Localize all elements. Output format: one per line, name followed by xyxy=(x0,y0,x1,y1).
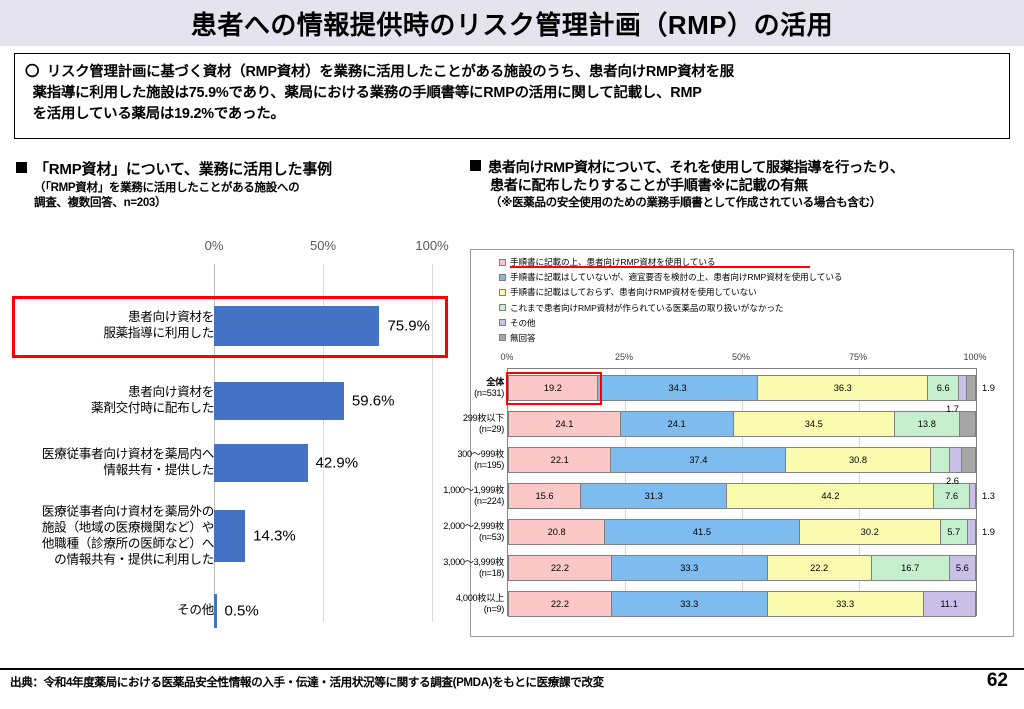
right-segment-value: 11.1 xyxy=(940,599,957,609)
right-bar-segment xyxy=(960,412,976,436)
left-bar-chart: 0%50%100% 患者向け資材を服薬指導に利用した75.9%患者向け資材を薬剤… xyxy=(10,238,460,628)
summary-text-2: 薬指導に利用した施設は75.9%であり、薬局における業務の手順書等にRMPの活用… xyxy=(33,85,702,101)
right-segment-value: 34.5 xyxy=(805,419,823,429)
left-bar-label: 医療従事者向け資材を薬局内へ情報共有・提供した xyxy=(8,447,214,479)
slide-title-band: 患者への情報提供時のリスク管理計画（RMP）の活用 xyxy=(0,0,1024,46)
right-heading-line-1: 患者向けRMP資材について、それを使用して服薬指導を行ったり、 xyxy=(488,160,904,176)
left-bar-label-line: の情報共有・提供に利用した xyxy=(8,552,214,568)
legend-swatch-icon xyxy=(499,304,506,311)
legend-label: これまで患者向けRMP資材が作られている医薬品の取り扱いがなかった xyxy=(510,302,783,314)
right-category-name: 300〜999枚 xyxy=(394,449,504,460)
right-bar-segment: 34.5 xyxy=(734,412,895,436)
left-bar-label-line: 患者向け資材を xyxy=(8,310,214,326)
left-sub-line-1: （「RMP資材」を業務に活用したことがある施設への xyxy=(34,181,456,196)
right-category-label: 3,000〜3,999枚(n=18) xyxy=(394,557,504,579)
right-stacked-bar: 24.124.134.513.8 xyxy=(508,411,976,437)
right-segment-value: 30.2 xyxy=(861,527,879,537)
right-x-tick: 50% xyxy=(732,352,750,362)
right-chart-plot: 全体(n=531)19.234.336.36.6299枚以下(n=29)24.1… xyxy=(507,368,977,616)
left-bar-value: 0.5% xyxy=(225,603,259,620)
footer-divider xyxy=(0,668,1024,670)
right-heading-note: （※医薬品の安全使用のための業務手順書として作成されている場合も含む） xyxy=(490,196,1024,211)
right-bar-segment: 16.7 xyxy=(872,556,950,580)
legend-label: 手順書に記載はしていないが、適宜要否を検討の上、患者向けRMP資材を使用している xyxy=(510,271,842,283)
right-bar-segment xyxy=(959,376,967,400)
summary-bullet: 〇 xyxy=(25,64,39,80)
left-bar-value: 14.3% xyxy=(253,528,296,545)
legend-item: 無回答 xyxy=(499,332,999,344)
left-chart-plot: 患者向け資材を服薬指導に利用した75.9%患者向け資材を薬剤交付時に配布した59… xyxy=(10,264,460,622)
left-x-tick: 0% xyxy=(205,238,224,253)
left-bar xyxy=(214,594,217,628)
left-chart-x-axis: 0%50%100% xyxy=(10,238,460,262)
right-segment-callout: 1.9 xyxy=(982,383,995,393)
right-segment-callout: 1.7 xyxy=(946,404,959,414)
right-heading-line-2: 患者に配布したりすることが手順書※に記載の有無 xyxy=(490,177,1024,196)
right-segment-value: 44.2 xyxy=(821,491,839,501)
right-segment-value: 33.3 xyxy=(836,599,854,609)
summary-text-3: を活用している薬局は19.2%であった。 xyxy=(33,106,285,122)
right-x-tick: 75% xyxy=(849,352,867,362)
right-segment-value: 5.6 xyxy=(956,563,969,573)
left-bar-value: 75.9% xyxy=(387,318,430,335)
left-bar-label-line: 服薬指導に利用した xyxy=(8,326,214,342)
right-segment-value: 24.1 xyxy=(555,419,573,429)
right-bar-segment: 30.2 xyxy=(800,520,941,544)
right-chart-legend: 手順書に記載の上、患者向けRMP資材を使用している手順書に記載はしていないが、適… xyxy=(499,256,999,347)
right-category-label: 300〜999枚(n=195) xyxy=(394,449,504,471)
right-stacked-bar: 22.233.322.216.75.6 xyxy=(508,555,976,581)
right-category-name: 2,000〜2,999枚 xyxy=(394,521,504,532)
legend-label: 手順書に記載はしておらず、患者向けRMP資材を使用していない xyxy=(510,286,757,298)
legend-swatch-icon xyxy=(499,259,506,266)
right-stacked-bar-chart: 手順書に記載の上、患者向けRMP資材を使用している手順書に記載はしていないが、適… xyxy=(470,249,1014,637)
right-category-count: (n=18) xyxy=(394,568,504,579)
left-heading-sub: （「RMP資材」を業務に活用したことがある施設への 調査、複数回答、n=203） xyxy=(34,181,456,211)
right-bar-segment: 44.2 xyxy=(727,484,934,508)
left-bar xyxy=(214,444,308,482)
right-stacked-bar: 22.233.333.311.1 xyxy=(508,591,976,617)
right-segment-value: 13.8 xyxy=(918,419,936,429)
summary-line-3: を活用している薬局は19.2%であった。 xyxy=(25,104,999,125)
right-bar-segment: 7.6 xyxy=(934,484,970,508)
right-bar-segment: 22.2 xyxy=(768,556,872,580)
right-bar-segment: 20.8 xyxy=(508,520,605,544)
summary-text-1: リスク管理計画に基づく資材（RMP資材）を業務に活用したことがある施設のうち、患… xyxy=(47,64,734,80)
right-bar-segment: 6.6 xyxy=(928,376,959,400)
right-category-name: 1,000〜1,999枚 xyxy=(394,485,504,496)
left-bar-label: その他 xyxy=(8,603,214,619)
left-bar-value: 59.6% xyxy=(352,393,395,410)
right-segment-value: 5.7 xyxy=(947,527,960,537)
source-note: 出典：令和4年度薬局における医薬品安全性情報の入手・伝達・活用状況等に関する調査… xyxy=(10,674,604,690)
left-bar-label-line: 患者向け資材を xyxy=(8,385,214,401)
left-bar-label-line: 医療従事者向け資材を薬局内へ xyxy=(8,447,214,463)
right-bar-segment: 41.5 xyxy=(605,520,799,544)
right-bar-segment: 15.6 xyxy=(508,484,581,508)
right-bar-segment xyxy=(931,448,950,472)
right-segment-callout: 2.6 xyxy=(946,476,959,486)
right-heading-rest: 患者に配布したりすることが手順書※に記載の有無 （※医薬品の安全使用のための業務… xyxy=(490,177,1024,211)
right-bar-segment: 30.8 xyxy=(786,448,930,472)
legend-swatch-icon xyxy=(499,289,506,296)
legend-item: 手順書に記載の上、患者向けRMP資材を使用している xyxy=(499,256,999,268)
right-bar-segment: 31.3 xyxy=(581,484,727,508)
right-segment-value: 41.5 xyxy=(693,527,711,537)
bullet-square-icon xyxy=(470,160,481,171)
left-bar xyxy=(214,306,379,346)
right-segment-value: 36.3 xyxy=(834,383,852,393)
left-bar-label: 医療従事者向け資材を薬局外の施設（地域の医療機関など）や他職種（診療所の医師など… xyxy=(8,504,214,567)
right-segment-value: 30.8 xyxy=(849,455,867,465)
left-bar-label-line: その他 xyxy=(8,603,214,619)
right-category-label: 4,000枚以上(n=9) xyxy=(394,593,504,615)
right-bar-segment: 22.1 xyxy=(508,448,611,472)
right-segment-value: 15.6 xyxy=(535,491,553,501)
summary-box: 〇 リスク管理計画に基づく資材（RMP資材）を業務に活用したことがある施設のうち… xyxy=(14,53,1010,139)
bullet-square-icon xyxy=(16,162,27,173)
right-category-count: (n=53) xyxy=(394,532,504,543)
right-bar-segment: 19.2 xyxy=(508,376,598,400)
right-category-name: 299枚以下 xyxy=(394,413,504,424)
right-section-heading: 患者向けRMP資材について、それを使用して服薬指導を行ったり、 患者に配布したり… xyxy=(470,157,1024,211)
left-x-tick: 100% xyxy=(415,238,448,253)
right-bar-segment: 13.8 xyxy=(895,412,960,436)
legend-red-underline xyxy=(510,266,810,268)
legend-label: その他 xyxy=(510,317,535,329)
right-bar-segment: 24.1 xyxy=(508,412,621,436)
right-category-count: (n=9) xyxy=(394,604,504,615)
right-bar-segment xyxy=(968,520,977,544)
slide-root: 患者への情報提供時のリスク管理計画（RMP）の活用 〇 リスク管理計画に基づく資… xyxy=(0,0,1024,709)
right-segment-value: 22.2 xyxy=(810,563,828,573)
right-bar-segment xyxy=(950,448,962,472)
right-category-label: 2,000〜2,999枚(n=53) xyxy=(394,521,504,543)
left-sub-line-2: 調査、複数回答、n=203） xyxy=(34,196,456,211)
left-bar-value: 42.9% xyxy=(316,455,359,472)
right-category-name: 4,000枚以上 xyxy=(394,593,504,604)
legend-swatch-icon xyxy=(499,334,506,341)
right-bar-segment: 33.3 xyxy=(768,592,924,616)
right-segment-value: 20.8 xyxy=(548,527,566,537)
right-category-count: (n=195) xyxy=(394,460,504,471)
right-segment-callout: 1.3 xyxy=(982,491,995,501)
right-segment-value: 6.6 xyxy=(937,383,950,393)
page-title: 患者への情報提供時のリスク管理計画（RMP）の活用 xyxy=(191,5,833,42)
left-bar xyxy=(214,382,344,420)
left-bar-label: 患者向け資材を服薬指導に利用した xyxy=(8,310,214,342)
right-bar-segment xyxy=(962,448,977,472)
right-segment-value: 33.3 xyxy=(680,563,698,573)
right-segment-value: 7.6 xyxy=(945,491,958,501)
legend-item: その他 xyxy=(499,317,999,329)
right-x-tick: 25% xyxy=(615,352,633,362)
right-bar-segment: 11.1 xyxy=(924,592,976,616)
legend-item: これまで患者向けRMP資材が作られている医薬品の取り扱いがなかった xyxy=(499,302,999,314)
right-segment-callout: 1.9 xyxy=(982,527,995,537)
right-category-label: 1,000〜1,999枚(n=224) xyxy=(394,485,504,507)
right-chart-x-axis: 0%25%50%75%100% xyxy=(471,352,1015,368)
left-bar-label-line: 他職種（診療所の医師など）へ xyxy=(8,536,214,552)
right-segment-value: 24.1 xyxy=(668,419,686,429)
right-stacked-bar: 22.137.430.8 xyxy=(508,447,976,473)
right-category-count: (n=29) xyxy=(394,424,504,435)
summary-line-2: 薬指導に利用した施設は75.9%であり、薬局における業務の手順書等にRMPの活用… xyxy=(25,83,999,104)
right-stacked-bar: 20.841.530.25.7 xyxy=(508,519,976,545)
right-bar-segment xyxy=(967,376,976,400)
right-bar-segment: 24.1 xyxy=(621,412,734,436)
right-segment-value: 37.4 xyxy=(689,455,707,465)
left-section-heading: 「RMP資材」について、業務に活用した事例 （「RMP資材」を業務に活用したこと… xyxy=(16,158,456,211)
right-bar-segment: 33.3 xyxy=(612,592,768,616)
right-category-label: 299枚以下(n=29) xyxy=(394,413,504,435)
right-segment-value: 34.3 xyxy=(669,383,687,393)
left-heading-text: 「RMP資材」について、業務に活用した事例 xyxy=(34,161,332,178)
left-bar-label: 患者向け資材を薬剤交付時に配布した xyxy=(8,385,214,417)
right-segment-value: 19.2 xyxy=(544,383,562,393)
right-segment-value: 31.3 xyxy=(645,491,663,501)
right-stacked-bar: 15.631.344.27.6 xyxy=(508,483,976,509)
right-bar-segment: 36.3 xyxy=(758,376,928,400)
summary-line-1: 〇 リスク管理計画に基づく資材（RMP資材）を業務に活用したことがある施設のうち… xyxy=(25,62,999,83)
left-bar-label-line: 施設（地域の医療機関など）や xyxy=(8,520,214,536)
right-bar-segment: 22.2 xyxy=(508,592,612,616)
left-bar-label-line: 情報共有・提供した xyxy=(8,463,214,479)
right-category-name: 全体 xyxy=(394,377,504,388)
right-bar-segment: 5.6 xyxy=(950,556,976,580)
left-bar-label-line: 医療従事者向け資材を薬局外の xyxy=(8,504,214,520)
left-bar-label-line: 薬剤交付時に配布した xyxy=(8,401,214,417)
right-segment-value: 22.2 xyxy=(551,599,569,609)
left-bar xyxy=(214,510,245,562)
left-x-tick: 50% xyxy=(310,238,336,253)
right-category-count: (n=531) xyxy=(394,388,504,399)
right-category-name: 3,000〜3,999枚 xyxy=(394,557,504,568)
right-bar-segment: 33.3 xyxy=(612,556,768,580)
right-segment-value: 22.2 xyxy=(551,563,569,573)
right-category-label: 全体(n=531) xyxy=(394,377,504,399)
right-segment-value: 33.3 xyxy=(680,599,698,609)
right-bar-segment: 37.4 xyxy=(611,448,786,472)
legend-item: 手順書に記載はしていないが、適宜要否を検討の上、患者向けRMP資材を使用している xyxy=(499,271,999,283)
right-segment-value: 22.1 xyxy=(551,455,569,465)
legend-swatch-icon xyxy=(499,319,506,326)
right-segment-value: 16.7 xyxy=(901,563,919,573)
right-stacked-bar: 19.234.336.36.6 xyxy=(508,375,976,401)
right-bar-segment: 5.7 xyxy=(941,520,968,544)
right-x-tick: 0% xyxy=(500,352,513,362)
legend-label: 無回答 xyxy=(510,332,535,344)
right-bar-segment xyxy=(970,484,976,508)
legend-swatch-icon xyxy=(499,274,506,281)
right-x-tick: 100% xyxy=(963,352,986,362)
right-category-count: (n=224) xyxy=(394,496,504,507)
legend-item: 手順書に記載はしておらず、患者向けRMP資材を使用していない xyxy=(499,286,999,298)
page-number: 62 xyxy=(987,670,1008,692)
right-bar-segment: 22.2 xyxy=(508,556,612,580)
right-bar-segment: 34.3 xyxy=(598,376,759,400)
